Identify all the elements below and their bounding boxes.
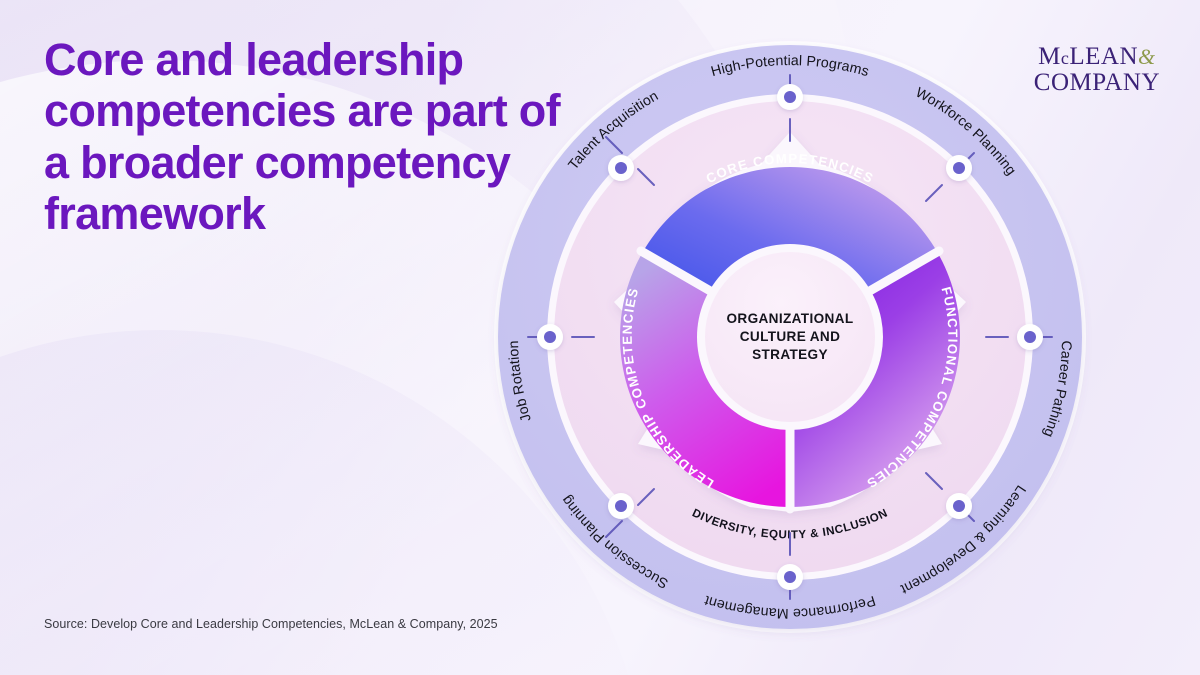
- center-line-3: STRATEGY: [752, 347, 828, 362]
- competency-framework-wheel: ORGANIZATIONAL CULTURE AND STRATEGY CORE…: [470, 12, 1110, 662]
- slide-canvas: Core and leadership competencies are par…: [0, 0, 1200, 675]
- logo-ampersand: &: [1138, 44, 1156, 69]
- source-citation: Source: Develop Core and Leadership Comp…: [44, 617, 498, 631]
- center-line-2: CULTURE AND: [740, 329, 841, 344]
- center-line-1: ORGANIZATIONAL: [727, 311, 854, 326]
